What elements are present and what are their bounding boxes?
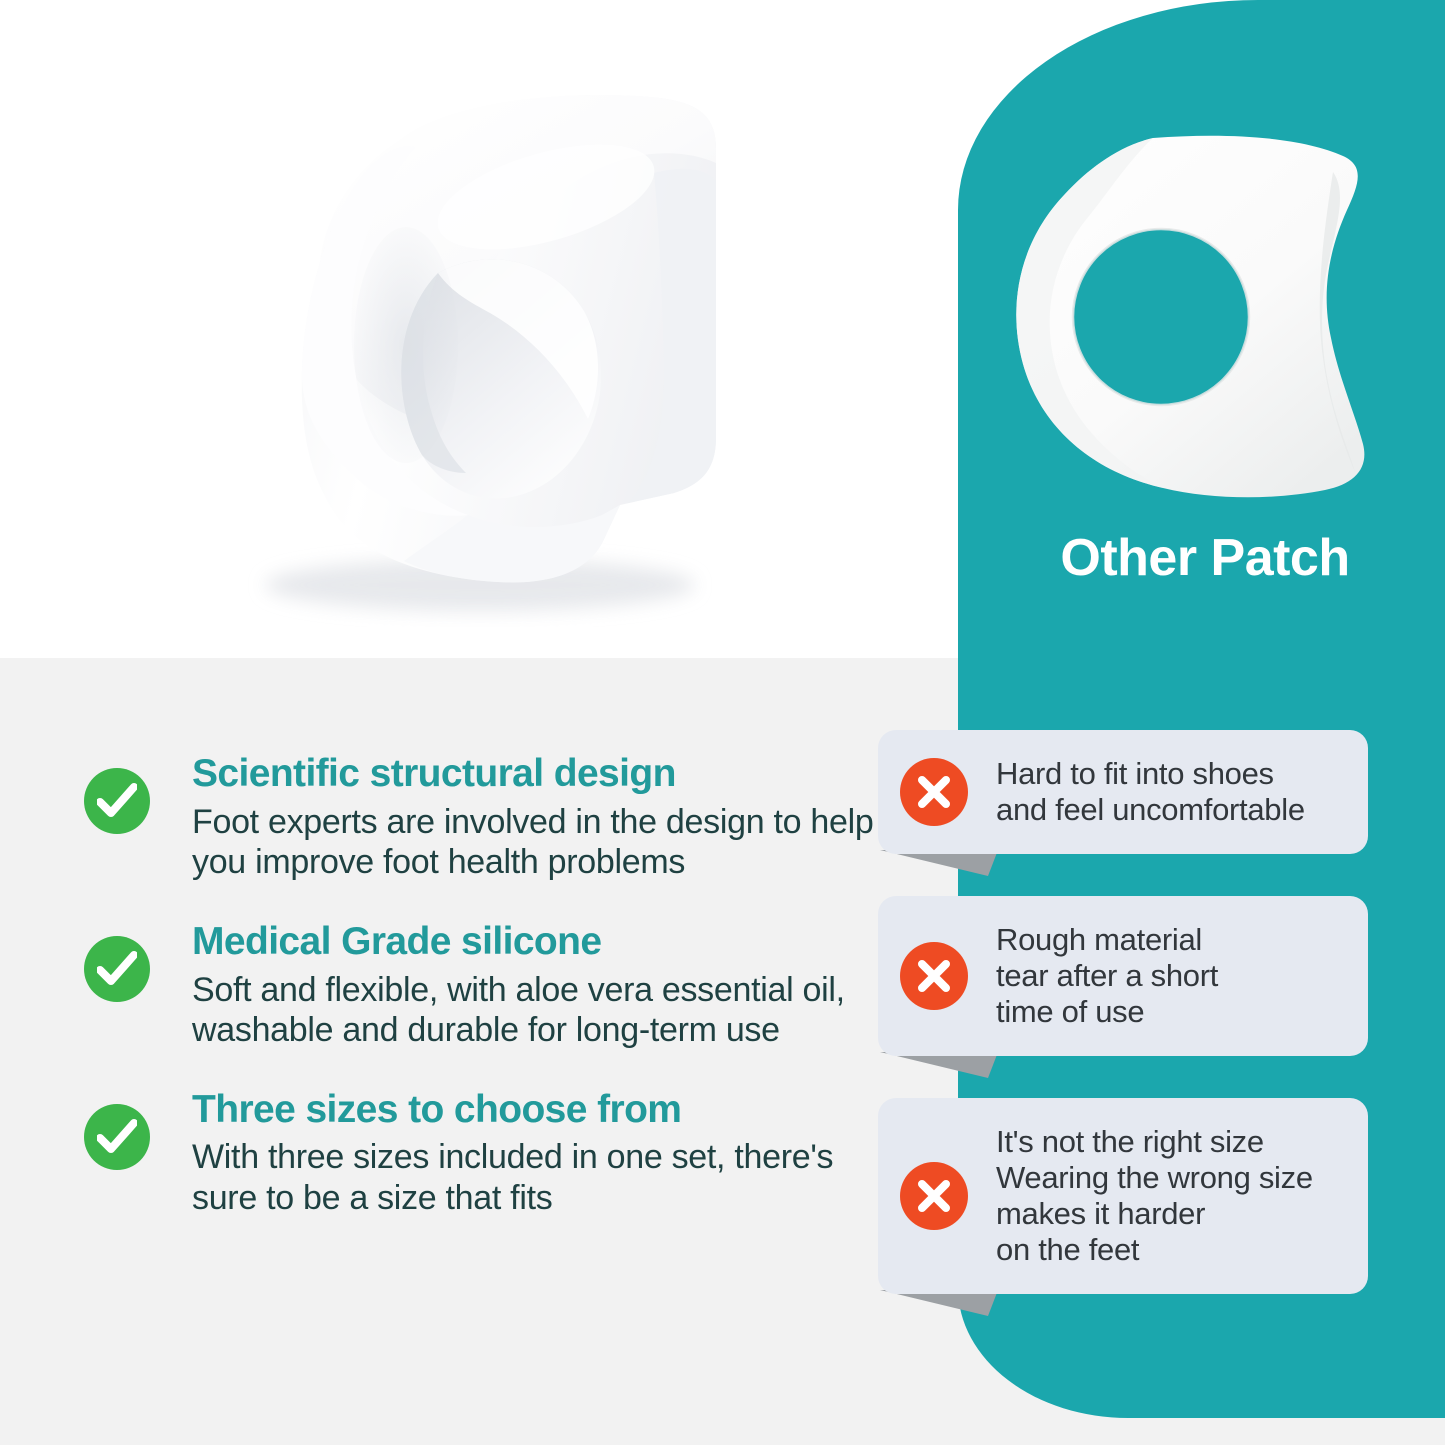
con-text: It's not the right size Wearing the wron… — [968, 1124, 1348, 1268]
pro-description: Foot experts are involved in the design … — [192, 802, 884, 882]
con-text: Hard to fit into shoes and feel uncomfor… — [968, 756, 1348, 828]
pro-text: Medical Grade silicone Soft and flexible… — [150, 920, 884, 1050]
con-item: Rough material tear after a short time o… — [878, 896, 1368, 1056]
con-line: Rough material — [996, 922, 1348, 958]
con-card: Rough material tear after a short time o… — [878, 896, 1368, 1056]
pro-description: With three sizes included in one set, th… — [192, 1137, 884, 1217]
cross-icon — [900, 942, 968, 1010]
con-line: tear after a short — [996, 958, 1348, 994]
check-icon — [84, 936, 150, 1002]
check-icon — [84, 768, 150, 834]
cross-icon — [900, 1162, 968, 1230]
check-icon — [84, 1104, 150, 1170]
pro-description: Soft and flexible, with aloe vera essent… — [192, 970, 884, 1050]
other-patch-title: Other Patch — [970, 530, 1440, 587]
con-line: and feel uncomfortable — [996, 792, 1348, 828]
pro-title: Three sizes to choose from — [192, 1088, 884, 1132]
silicone-toe-sleeve-photo — [150, 45, 750, 635]
pro-text: Three sizes to choose from With three si… — [150, 1088, 884, 1218]
pro-item: Scientific structural design Foot expert… — [84, 752, 884, 882]
cross-icon — [900, 758, 968, 826]
pro-item: Medical Grade silicone Soft and flexible… — [84, 920, 884, 1050]
con-line: time of use — [996, 994, 1348, 1030]
pro-title: Scientific structural design — [192, 752, 884, 796]
flat-gel-patch-photo — [1003, 132, 1398, 510]
pros-list: Scientific structural design Foot expert… — [84, 752, 884, 1256]
con-line: makes it harder — [996, 1196, 1348, 1232]
pro-item: Three sizes to choose from With three si… — [84, 1088, 884, 1218]
pro-title: Medical Grade silicone — [192, 920, 884, 964]
con-card: It's not the right size Wearing the wron… — [878, 1098, 1368, 1294]
con-item: It's not the right size Wearing the wron… — [878, 1098, 1368, 1294]
cons-list: Hard to fit into shoes and feel uncomfor… — [878, 730, 1368, 1336]
con-text: Rough material tear after a short time o… — [968, 922, 1348, 1030]
con-item: Hard to fit into shoes and feel uncomfor… — [878, 730, 1368, 854]
con-line: on the feet — [996, 1232, 1348, 1268]
con-line: It's not the right size — [996, 1124, 1348, 1160]
con-line: Hard to fit into shoes — [996, 756, 1348, 792]
pro-text: Scientific structural design Foot expert… — [150, 752, 884, 882]
con-line: Wearing the wrong size — [996, 1160, 1348, 1196]
product-comparison-infographic: Other Patch Scientific structural design… — [0, 0, 1445, 1445]
con-card: Hard to fit into shoes and feel uncomfor… — [878, 730, 1368, 854]
